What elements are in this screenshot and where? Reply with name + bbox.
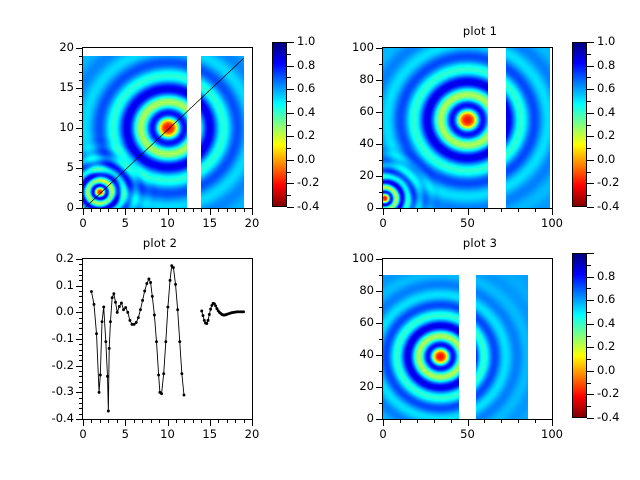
data-point-marker bbox=[106, 375, 109, 378]
tick-mark bbox=[518, 419, 519, 423]
xtick-label: 20 bbox=[232, 216, 272, 230]
ytick-label: 40 bbox=[332, 347, 374, 361]
tick-mark bbox=[159, 208, 160, 212]
overlay-diagonal-line-top-left bbox=[83, 48, 252, 208]
ytick-label: 20 bbox=[332, 168, 374, 182]
tick-mark bbox=[434, 419, 435, 423]
tick-mark bbox=[468, 208, 469, 215]
ytick-label: 20 bbox=[32, 40, 74, 54]
xtick-label: 0 bbox=[363, 216, 403, 230]
tick-mark bbox=[376, 208, 383, 209]
tick-mark bbox=[587, 148, 591, 149]
ytick-label: 80 bbox=[332, 283, 374, 297]
tick-mark bbox=[79, 280, 83, 281]
tick-mark bbox=[587, 160, 594, 161]
tick-mark bbox=[379, 403, 383, 404]
tick-mark bbox=[400, 419, 401, 423]
panel-bottom-right-plotarea bbox=[383, 259, 552, 419]
data-point-marker bbox=[176, 308, 179, 311]
xtick-label: 50 bbox=[448, 427, 488, 441]
tick-mark bbox=[379, 160, 383, 161]
data-point-marker bbox=[202, 314, 205, 317]
data-point-marker bbox=[95, 332, 98, 335]
tick-mark bbox=[287, 195, 291, 196]
tick-mark bbox=[376, 144, 383, 145]
ytick-label: 20 bbox=[332, 379, 374, 393]
tick-mark bbox=[79, 376, 83, 377]
tick-mark bbox=[151, 419, 152, 423]
tick-mark bbox=[376, 112, 383, 113]
xtick-label: 15 bbox=[190, 427, 230, 441]
tick-mark bbox=[125, 419, 126, 426]
line-series-segment-1 bbox=[90, 264, 185, 412]
tick-mark bbox=[79, 387, 83, 388]
ytick-label: 0.2 bbox=[32, 251, 74, 265]
tick-mark bbox=[76, 128, 83, 129]
ytick-label: 80 bbox=[332, 72, 374, 86]
tick-mark bbox=[108, 419, 109, 423]
tick-mark bbox=[76, 208, 83, 209]
colorbar-tick-label: -0.2 bbox=[597, 175, 640, 189]
tick-mark bbox=[587, 312, 591, 313]
ytick-label: 100 bbox=[332, 251, 374, 265]
colorbar-tick-label: -0.2 bbox=[597, 386, 640, 400]
tick-mark bbox=[76, 88, 83, 89]
tick-mark bbox=[76, 312, 83, 313]
colorbar-tick-label: 0.0 bbox=[597, 363, 640, 377]
xtick-label: 10 bbox=[148, 427, 188, 441]
data-point-marker bbox=[126, 311, 129, 314]
tick-mark bbox=[79, 104, 83, 105]
colorbar-tick-label: 0.6 bbox=[597, 292, 640, 306]
ytick-label: 40 bbox=[332, 136, 374, 150]
data-point-marker bbox=[209, 308, 212, 311]
data-point-marker bbox=[137, 316, 140, 319]
tick-mark bbox=[142, 208, 143, 212]
panel-top-right-plotarea bbox=[383, 48, 552, 208]
tick-mark bbox=[142, 419, 143, 423]
tick-mark bbox=[379, 371, 383, 372]
ytick-label: 10 bbox=[32, 120, 74, 134]
colorbar-tick-label: 0.8 bbox=[597, 58, 640, 72]
tick-mark bbox=[587, 288, 591, 289]
ytick-label: 0.1 bbox=[32, 278, 74, 292]
data-point-marker bbox=[203, 319, 206, 322]
tick-mark bbox=[417, 208, 418, 212]
data-point-marker bbox=[141, 299, 144, 302]
tick-mark bbox=[79, 275, 83, 276]
tick-mark bbox=[587, 136, 594, 137]
tick-mark bbox=[79, 160, 83, 161]
tick-mark bbox=[501, 208, 502, 212]
tick-mark bbox=[587, 77, 591, 78]
tick-mark bbox=[91, 208, 92, 212]
tick-mark bbox=[376, 419, 383, 420]
tick-mark bbox=[379, 64, 383, 65]
tick-mark bbox=[83, 419, 84, 426]
tick-mark bbox=[501, 419, 502, 423]
tick-mark bbox=[79, 291, 83, 292]
tick-mark bbox=[79, 144, 83, 145]
xtick-label: 0 bbox=[63, 216, 103, 230]
tick-mark bbox=[587, 195, 591, 196]
tick-mark bbox=[79, 371, 83, 372]
data-point-marker bbox=[111, 296, 114, 299]
panel-bottom-left: plot 2 05101520-0.4-0.3-0.2-0.10.00.10.2 bbox=[0, 240, 320, 480]
tick-mark bbox=[79, 344, 83, 345]
xtick-label: 5 bbox=[105, 216, 145, 230]
heatmap-image-bottom-right bbox=[383, 259, 552, 419]
data-point-marker bbox=[207, 319, 210, 322]
xtick-label: 15 bbox=[190, 216, 230, 230]
data-point-marker bbox=[147, 278, 150, 281]
tick-mark bbox=[587, 113, 594, 114]
tick-mark bbox=[76, 168, 83, 169]
tick-mark bbox=[125, 208, 126, 215]
tick-mark bbox=[79, 296, 83, 297]
panel-top-left: 0510152005101520 -0.4-0.20.00.20.40.60.8… bbox=[0, 0, 320, 240]
tick-mark bbox=[83, 208, 84, 215]
colorbar-bottom-right bbox=[572, 253, 587, 418]
tick-mark bbox=[79, 302, 83, 303]
data-point-marker bbox=[124, 306, 127, 309]
tick-mark bbox=[79, 307, 83, 308]
tick-mark bbox=[252, 208, 253, 215]
tick-mark bbox=[168, 208, 169, 215]
data-point-marker bbox=[174, 283, 177, 286]
tick-mark bbox=[287, 66, 294, 67]
tick-mark bbox=[376, 176, 383, 177]
data-point-marker bbox=[102, 306, 105, 309]
tick-mark bbox=[79, 382, 83, 383]
data-point-marker bbox=[214, 304, 217, 307]
ytick-label: 0 bbox=[332, 411, 374, 425]
tick-mark bbox=[79, 200, 83, 201]
data-point-marker bbox=[120, 302, 123, 305]
data-point-marker bbox=[155, 340, 158, 343]
data-point-marker bbox=[112, 292, 115, 295]
ytick-label: 0 bbox=[32, 200, 74, 214]
ytick-label: -0.1 bbox=[32, 331, 74, 345]
tick-mark bbox=[76, 366, 83, 367]
tick-mark bbox=[79, 112, 83, 113]
tick-mark bbox=[383, 208, 384, 215]
tick-mark bbox=[587, 207, 594, 208]
tick-mark bbox=[552, 208, 553, 215]
data-point-marker bbox=[108, 347, 111, 350]
tick-mark bbox=[587, 277, 594, 278]
ytick-label: -0.3 bbox=[32, 384, 74, 398]
tick-mark bbox=[287, 101, 291, 102]
tick-mark bbox=[117, 419, 118, 423]
tick-mark bbox=[108, 208, 109, 212]
tick-mark bbox=[587, 359, 591, 360]
tick-mark bbox=[76, 286, 83, 287]
data-point-marker bbox=[164, 340, 167, 343]
tick-mark bbox=[184, 208, 185, 212]
tick-mark bbox=[587, 89, 594, 90]
colorbar-tick-label: 0.2 bbox=[597, 339, 640, 353]
data-point-marker bbox=[151, 295, 154, 298]
data-point-marker bbox=[162, 372, 165, 375]
tick-mark bbox=[79, 96, 83, 97]
tick-mark bbox=[218, 419, 219, 423]
data-point-marker bbox=[101, 320, 104, 323]
tick-mark bbox=[376, 259, 383, 260]
line-series-plot-2 bbox=[83, 259, 252, 419]
tick-mark bbox=[79, 80, 83, 81]
tick-mark bbox=[76, 419, 83, 420]
ytick-label: -0.4 bbox=[32, 411, 74, 425]
tick-mark bbox=[451, 419, 452, 423]
tick-mark bbox=[76, 259, 83, 260]
ytick-label: -0.2 bbox=[32, 358, 74, 372]
tick-mark bbox=[79, 355, 83, 356]
tick-mark bbox=[176, 419, 177, 423]
tick-mark bbox=[376, 48, 383, 49]
tick-mark bbox=[244, 208, 245, 212]
data-point-marker bbox=[118, 305, 121, 308]
tick-mark bbox=[193, 419, 194, 423]
line-series-segment-2 bbox=[200, 302, 245, 325]
tick-mark bbox=[376, 291, 383, 292]
tick-mark bbox=[79, 328, 83, 329]
tick-mark bbox=[168, 419, 169, 426]
data-point-marker bbox=[166, 306, 169, 309]
tick-mark bbox=[100, 208, 101, 212]
data-point-marker bbox=[160, 392, 163, 395]
data-point-marker bbox=[99, 374, 102, 377]
tick-mark bbox=[587, 265, 591, 266]
xtick-label: 5 bbox=[105, 427, 145, 441]
tick-mark bbox=[79, 192, 83, 193]
tick-mark bbox=[587, 172, 591, 173]
data-point-marker bbox=[153, 314, 156, 317]
tick-mark bbox=[201, 419, 202, 423]
tick-mark bbox=[184, 419, 185, 423]
tick-mark bbox=[227, 419, 228, 423]
tick-mark bbox=[79, 270, 83, 271]
tick-mark bbox=[468, 419, 469, 426]
data-point-marker bbox=[93, 303, 96, 306]
xtick-label: 10 bbox=[148, 216, 188, 230]
colorbar-top-left bbox=[272, 42, 287, 207]
tick-mark bbox=[287, 42, 294, 43]
tick-mark bbox=[79, 176, 83, 177]
colorbar-tick-label: 0.4 bbox=[597, 316, 640, 330]
tick-mark bbox=[79, 152, 83, 153]
tick-mark bbox=[287, 183, 294, 184]
tick-mark bbox=[79, 64, 83, 65]
tick-mark bbox=[79, 136, 83, 137]
ytick-label: 100 bbox=[332, 40, 374, 54]
data-point-marker bbox=[107, 410, 110, 413]
tick-mark bbox=[587, 253, 594, 254]
tick-mark bbox=[417, 419, 418, 423]
tick-mark bbox=[79, 360, 83, 361]
tick-mark bbox=[287, 207, 294, 208]
tick-mark bbox=[91, 419, 92, 423]
tick-mark bbox=[235, 419, 236, 423]
tick-mark bbox=[79, 408, 83, 409]
colorbar-tick-label: 0.2 bbox=[597, 128, 640, 142]
colorbar-top-right bbox=[572, 42, 587, 207]
tick-mark bbox=[252, 419, 253, 426]
colorbar-tick-label: -0.4 bbox=[597, 410, 640, 424]
tick-mark bbox=[210, 208, 211, 215]
ytick-label: 5 bbox=[32, 160, 74, 174]
tick-mark bbox=[218, 208, 219, 212]
tick-mark bbox=[287, 54, 291, 55]
tick-mark bbox=[379, 96, 383, 97]
panel-bottom-right: plot 3 050100020406080100 -0.4-0.20.00.2… bbox=[320, 240, 640, 480]
tick-mark bbox=[134, 208, 135, 212]
tick-mark bbox=[379, 128, 383, 129]
tick-mark bbox=[100, 419, 101, 423]
tick-mark bbox=[587, 183, 594, 184]
colorbar-tick-label: -0.4 bbox=[597, 199, 640, 213]
data-point-marker bbox=[114, 301, 117, 304]
tick-mark bbox=[379, 275, 383, 276]
tick-mark bbox=[451, 208, 452, 212]
xtick-label: 100 bbox=[532, 216, 572, 230]
tick-mark bbox=[287, 172, 291, 173]
data-point-marker bbox=[178, 340, 181, 343]
colorbar-tick-label: 0.8 bbox=[597, 269, 640, 283]
data-point-marker bbox=[242, 310, 245, 313]
tick-mark bbox=[210, 419, 211, 426]
ytick-label: 15 bbox=[32, 80, 74, 94]
tick-mark bbox=[587, 418, 594, 419]
ytick-label: 60 bbox=[332, 104, 374, 118]
data-point-marker bbox=[157, 374, 160, 377]
tick-mark bbox=[244, 419, 245, 423]
data-point-marker bbox=[104, 340, 107, 343]
tick-mark bbox=[587, 371, 594, 372]
colorbar-tick-label: 1.0 bbox=[597, 34, 640, 48]
tick-mark bbox=[518, 208, 519, 212]
ytick-label: 0.0 bbox=[32, 304, 74, 318]
xtick-label: 50 bbox=[448, 216, 488, 230]
data-point-marker bbox=[116, 311, 119, 314]
tick-mark bbox=[287, 77, 291, 78]
colorbar-tick-label: 0.6 bbox=[597, 81, 640, 95]
data-point-marker bbox=[98, 391, 101, 394]
tick-mark bbox=[535, 419, 536, 423]
tick-mark bbox=[400, 208, 401, 212]
tick-mark bbox=[376, 387, 383, 388]
data-point-marker bbox=[90, 290, 93, 293]
tick-mark bbox=[159, 419, 160, 423]
tick-mark bbox=[79, 318, 83, 319]
data-point-marker bbox=[143, 290, 146, 293]
tick-mark bbox=[79, 414, 83, 415]
xtick-label: 0 bbox=[63, 427, 103, 441]
tick-mark bbox=[379, 339, 383, 340]
data-point-marker bbox=[109, 320, 112, 323]
ytick-label: 60 bbox=[332, 315, 374, 329]
tick-mark bbox=[76, 48, 83, 49]
tick-mark bbox=[587, 101, 591, 102]
tick-mark bbox=[201, 208, 202, 212]
tick-mark bbox=[376, 355, 383, 356]
tick-mark bbox=[287, 160, 294, 161]
tick-mark bbox=[151, 208, 152, 212]
tick-mark bbox=[79, 264, 83, 265]
data-point-marker bbox=[172, 266, 175, 269]
tick-mark bbox=[76, 392, 83, 393]
tick-mark bbox=[379, 192, 383, 193]
xtick-label: 0 bbox=[363, 427, 403, 441]
tick-mark bbox=[79, 72, 83, 73]
data-point-marker bbox=[122, 308, 125, 311]
tick-mark bbox=[287, 113, 294, 114]
tick-mark bbox=[484, 208, 485, 212]
data-point-marker bbox=[145, 282, 148, 285]
panel-top-right-title: plot 1 bbox=[380, 24, 580, 38]
data-point-marker bbox=[169, 279, 172, 282]
tick-mark bbox=[379, 307, 383, 308]
tick-mark bbox=[79, 56, 83, 57]
tick-mark bbox=[587, 300, 594, 301]
tick-mark bbox=[383, 419, 384, 426]
tick-mark bbox=[79, 398, 83, 399]
data-point-marker bbox=[180, 372, 183, 375]
xtick-label: 100 bbox=[532, 427, 572, 441]
figure-canvas: 0510152005101520 -0.4-0.20.00.20.40.60.8… bbox=[0, 0, 640, 480]
tick-mark bbox=[79, 403, 83, 404]
tick-mark bbox=[193, 208, 194, 212]
tick-mark bbox=[587, 324, 594, 325]
tick-mark bbox=[587, 336, 591, 337]
tick-mark bbox=[79, 323, 83, 324]
data-point-marker bbox=[128, 319, 131, 322]
tick-mark bbox=[587, 383, 591, 384]
tick-mark bbox=[552, 419, 553, 426]
tick-mark bbox=[587, 42, 594, 43]
tick-mark bbox=[227, 208, 228, 212]
tick-mark bbox=[376, 323, 383, 324]
tick-mark bbox=[376, 80, 383, 81]
tick-mark bbox=[587, 54, 591, 55]
tick-mark bbox=[287, 125, 291, 126]
tick-mark bbox=[176, 208, 177, 212]
tick-mark bbox=[587, 125, 591, 126]
tick-mark bbox=[287, 136, 294, 137]
tick-mark bbox=[235, 208, 236, 212]
heatmap-image-top-right bbox=[383, 48, 552, 208]
data-point-marker bbox=[149, 281, 152, 284]
data-point-marker bbox=[183, 394, 186, 397]
ytick-label: 0 bbox=[332, 200, 374, 214]
tick-mark bbox=[79, 120, 83, 121]
data-point-marker bbox=[135, 321, 138, 324]
panel-bottom-left-plotarea bbox=[83, 259, 252, 419]
data-point-marker bbox=[205, 322, 208, 325]
tick-mark bbox=[484, 419, 485, 423]
tick-mark bbox=[117, 208, 118, 212]
tick-mark bbox=[134, 419, 135, 423]
tick-mark bbox=[76, 339, 83, 340]
data-point-marker bbox=[139, 308, 142, 311]
tick-mark bbox=[79, 350, 83, 351]
tick-mark bbox=[535, 208, 536, 212]
tick-mark bbox=[587, 406, 591, 407]
panel-bottom-left-title: plot 2 bbox=[60, 236, 260, 250]
colorbar-tick-label: 0.0 bbox=[597, 152, 640, 166]
tick-mark bbox=[587, 394, 594, 395]
tick-mark bbox=[79, 184, 83, 185]
